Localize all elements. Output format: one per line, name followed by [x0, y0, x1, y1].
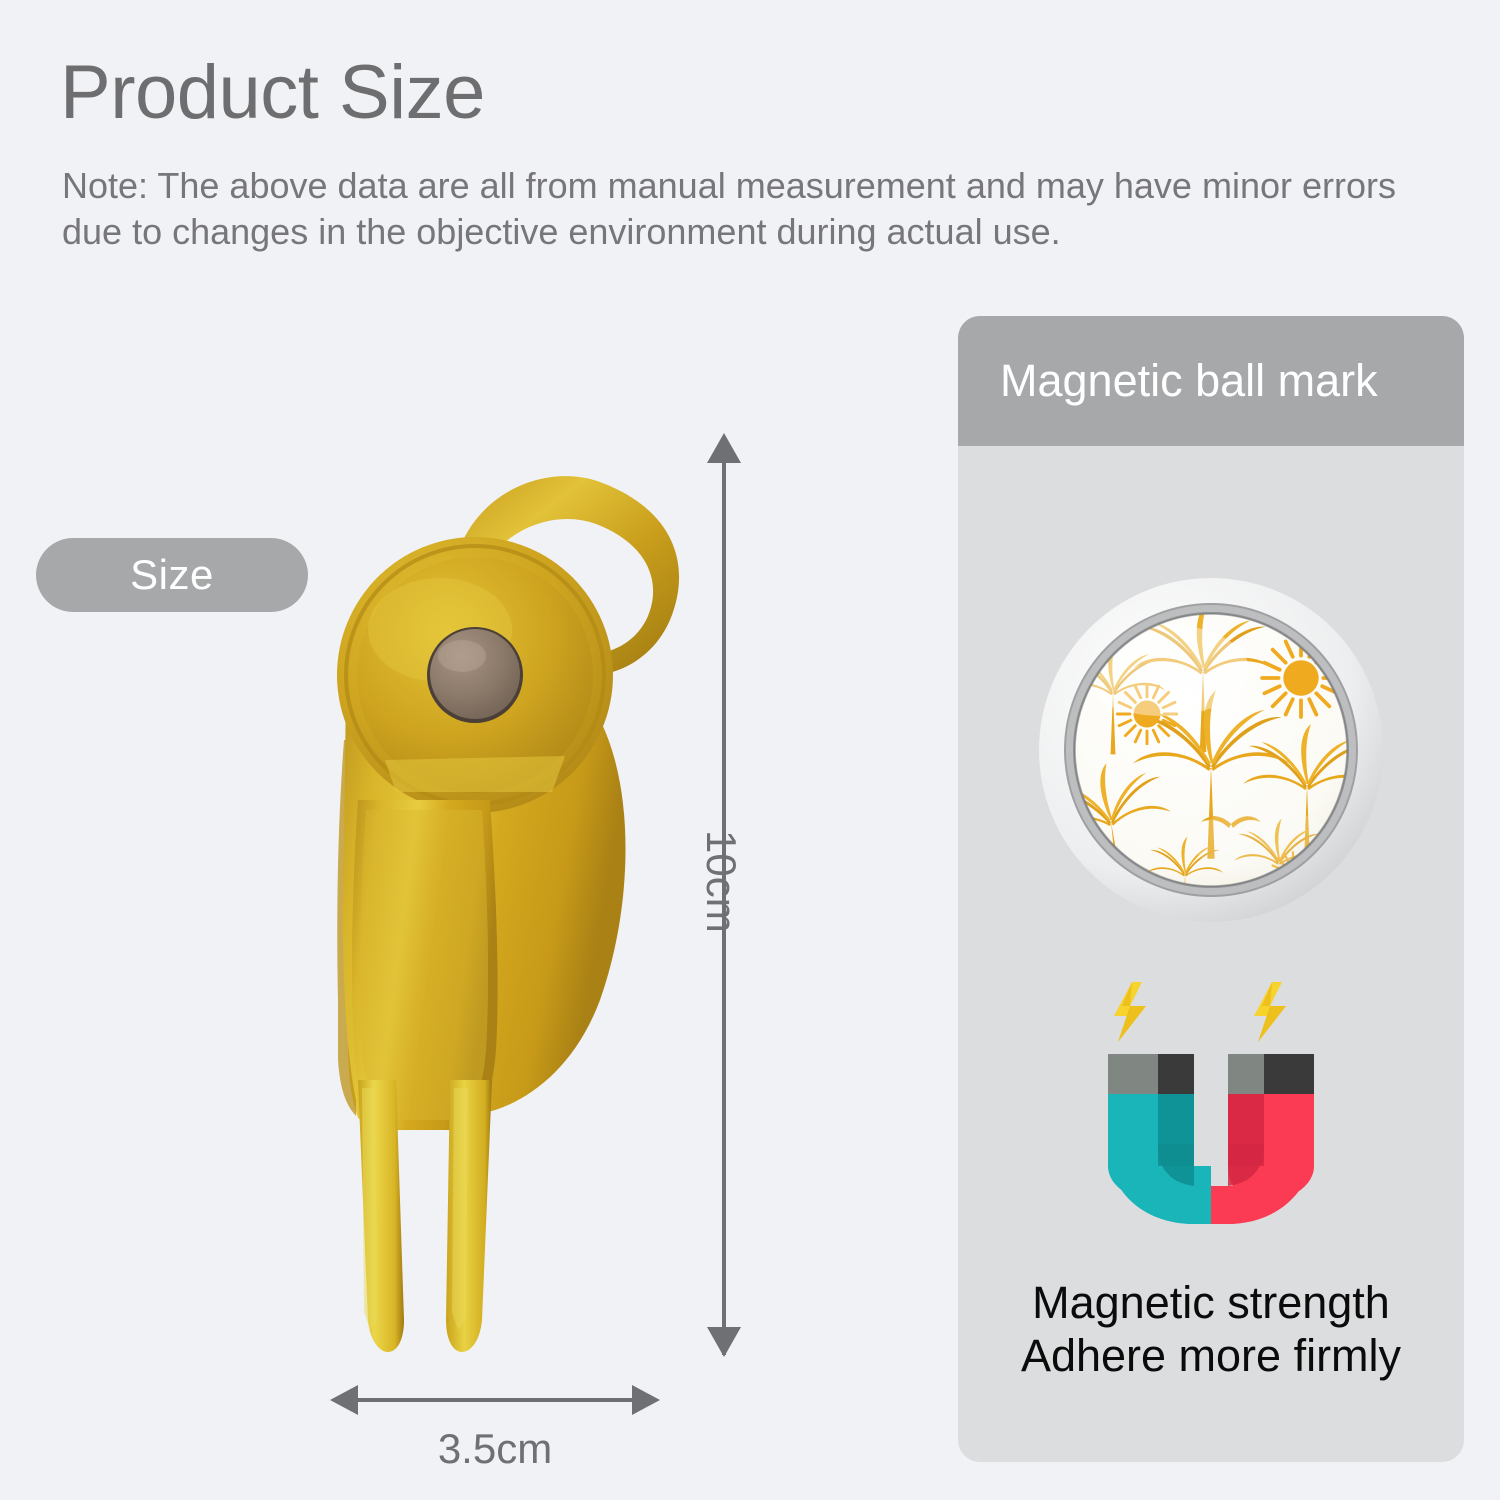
palm-tree-ball-marker-image	[1035, 574, 1387, 926]
product-size-infographic: Product Size Note: The above data are al…	[0, 0, 1500, 1500]
page-title: Product Size	[60, 55, 485, 131]
dimension-width-label: 3.5cm	[0, 1425, 990, 1473]
magnetic-ball-mark-header: Magnetic ball mark	[958, 316, 1464, 446]
horseshoe-magnet-icon	[1096, 976, 1326, 1246]
magnetic-ball-mark-panel: Magnetic ball mark	[958, 316, 1464, 1462]
spark-left-icon	[1114, 982, 1146, 1042]
golf-divot-tool-image	[300, 440, 700, 1370]
magnet-caption-line2: Adhere more firmly	[958, 1329, 1464, 1382]
dimension-arrow-down-icon	[707, 1327, 741, 1357]
magnet-caption: Magnetic strength Adhere more firmly	[958, 1276, 1464, 1382]
magnetic-ball-mark-title: Magnetic ball mark	[1000, 355, 1378, 407]
magnet-insert	[427, 627, 523, 723]
dimension-arrow-right-icon	[632, 1385, 660, 1415]
note-text: Note: The above data are all from manual…	[62, 163, 1462, 255]
spark-right-icon	[1254, 982, 1286, 1042]
dimension-line-horizontal	[340, 1398, 650, 1402]
magnet-caption-line1: Magnetic strength	[958, 1276, 1464, 1329]
size-badge-label: Size	[130, 551, 214, 599]
dimension-height-label: 10cm	[697, 830, 745, 933]
size-badge: Size	[36, 538, 308, 612]
